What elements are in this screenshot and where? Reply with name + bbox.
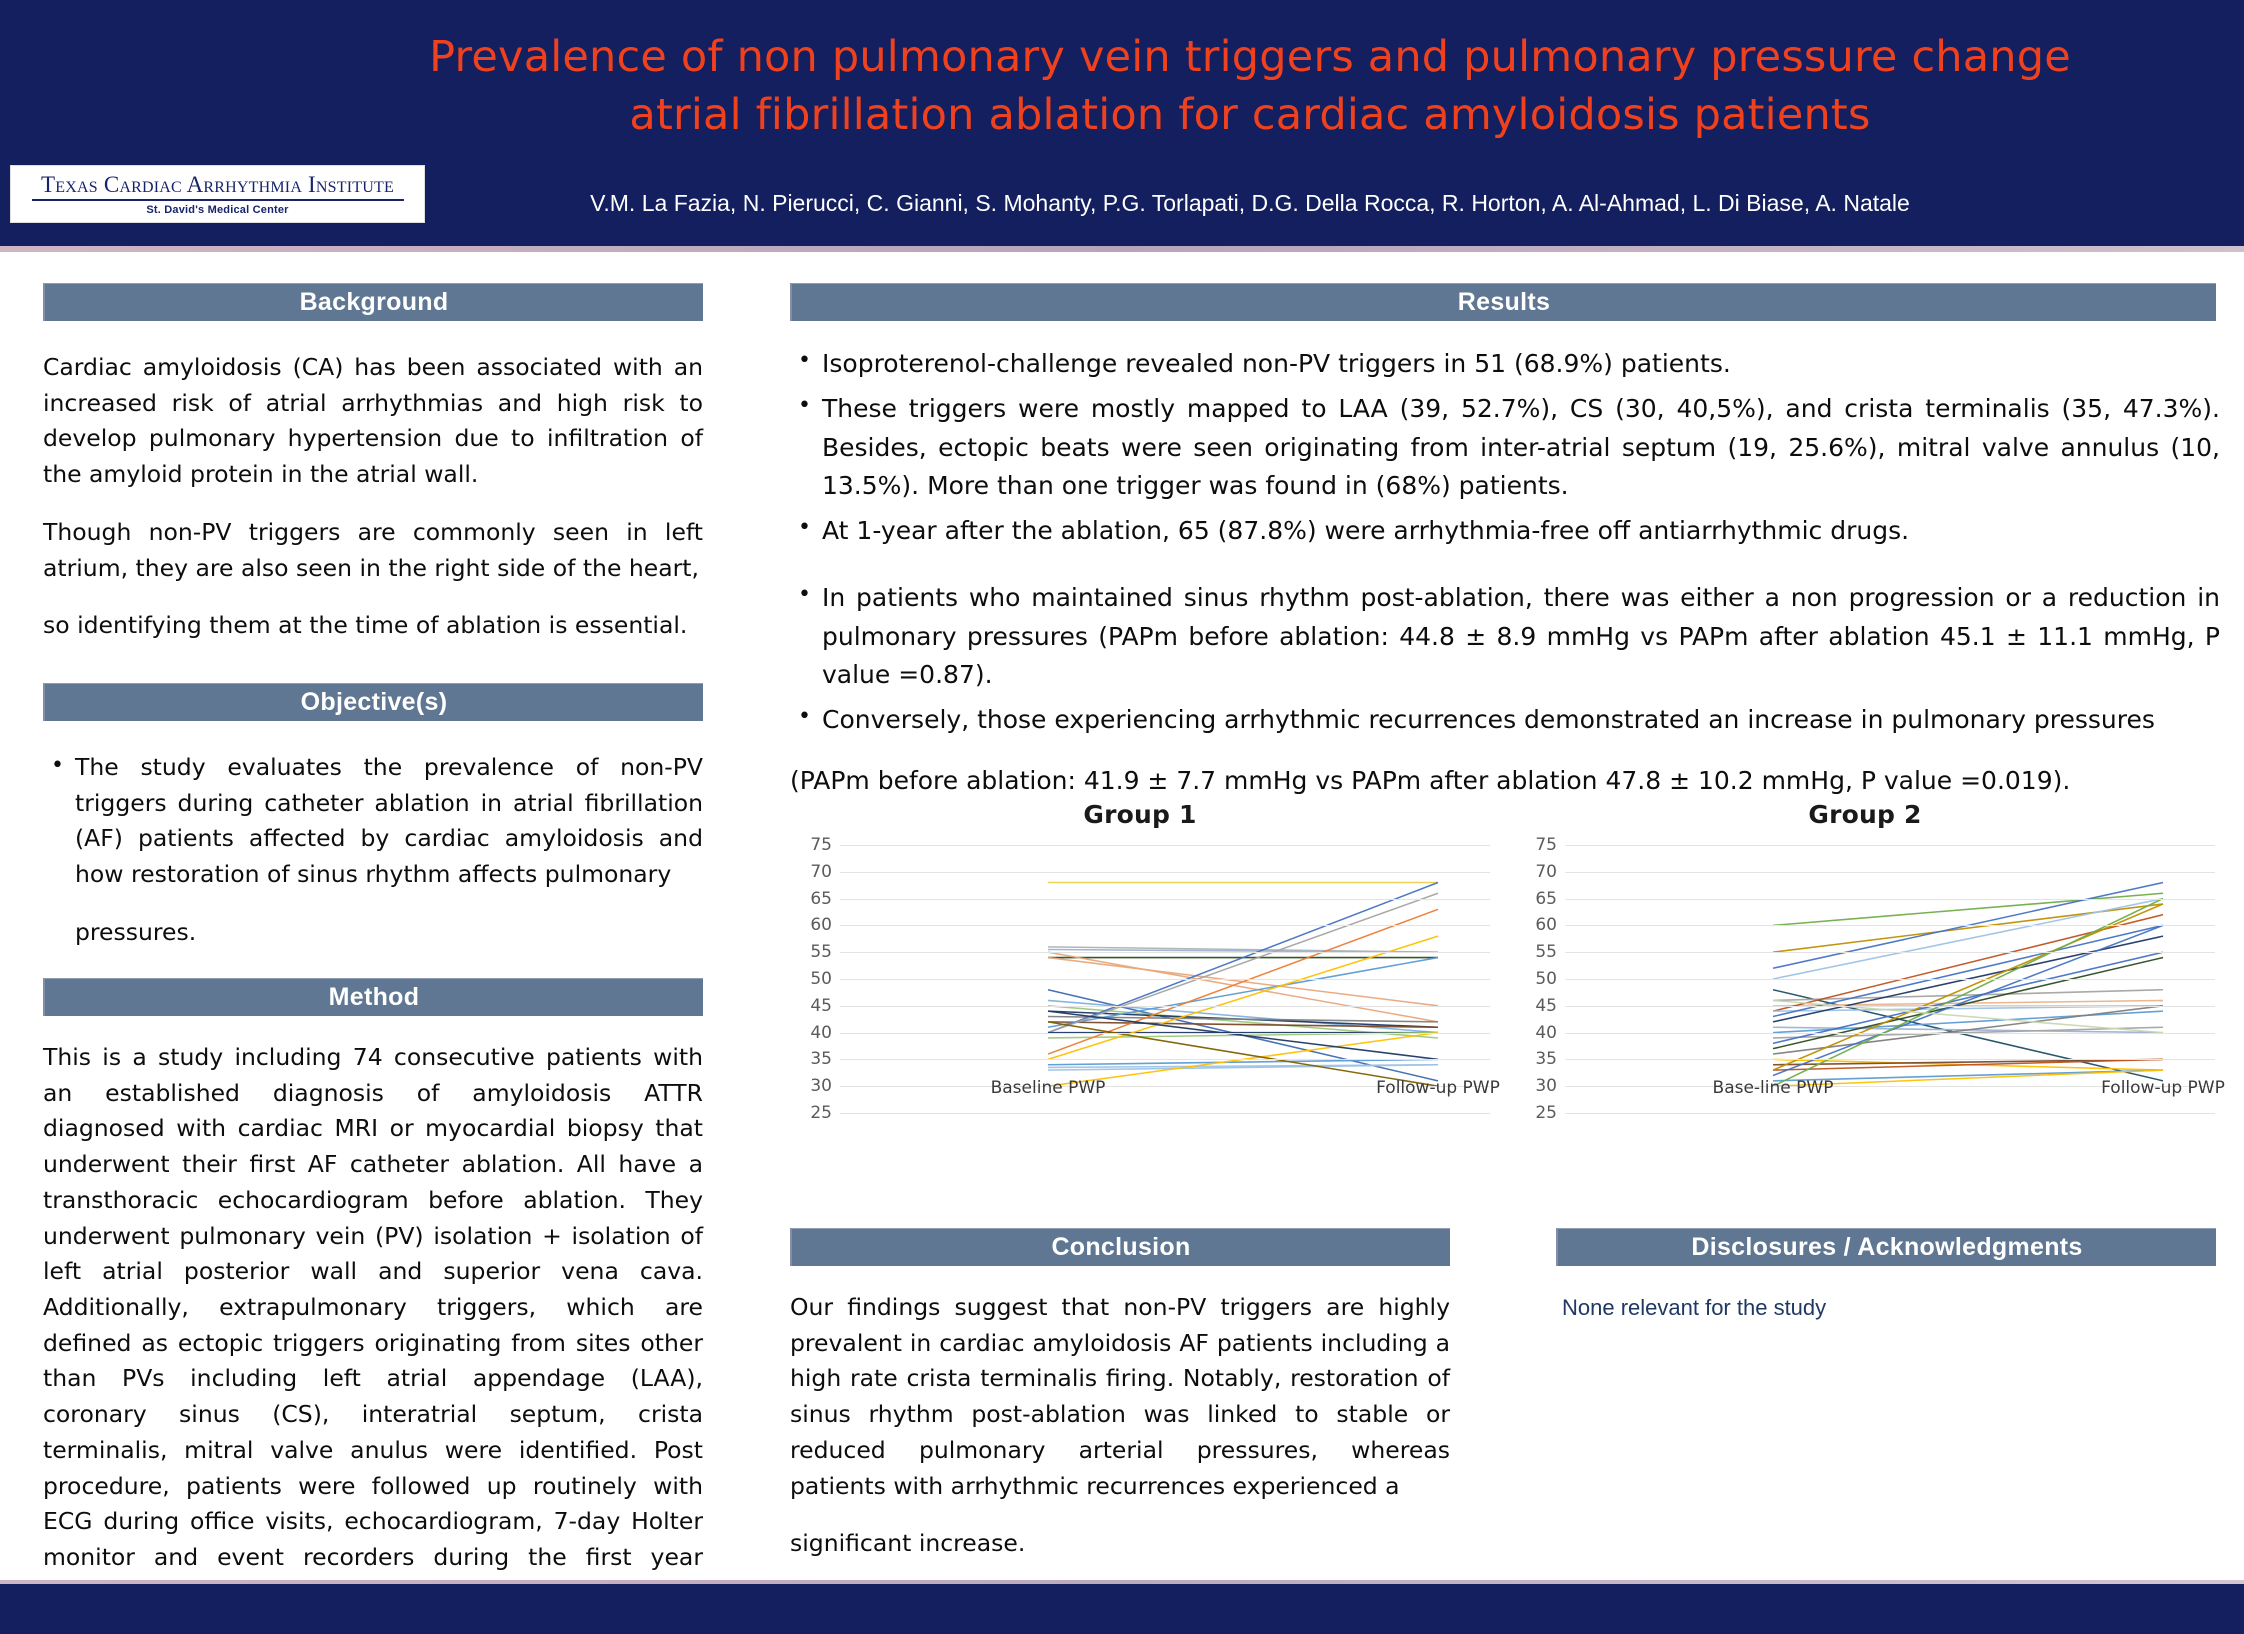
chart-gridline [1565, 1006, 2215, 1007]
chart-y-tick-label: 40 [1515, 1023, 1557, 1043]
poster-header: Prevalence of non pulmonary vein trigger… [0, 0, 2244, 250]
author-list: V.M. La Fazia, N. Pierucci, C. Gianni, S… [300, 190, 2200, 217]
chart-gridline [1565, 979, 2215, 980]
chart-gridline [1565, 1113, 2215, 1114]
section-header-conclusion: Conclusion [790, 1228, 1450, 1266]
disclosures-text: None relevant for the study [1562, 1295, 2222, 1321]
chart-series-line [1048, 1022, 1438, 1086]
section-header-method-label: Method [329, 983, 420, 1012]
chart-plot-area [1565, 845, 2215, 1113]
section-header-method: Method [43, 978, 703, 1016]
poster-title-line1: Prevalence of non pulmonary vein trigger… [300, 28, 2200, 86]
chart-gridline [1565, 845, 2215, 846]
chart-series-line [1048, 1011, 1438, 1059]
chart-y-tick-label: 75 [1515, 835, 1557, 855]
poster-footer [0, 1584, 2244, 1634]
chart-series-line [1773, 925, 2163, 1075]
chart-y-tick-label: 45 [1515, 996, 1557, 1016]
background-paragraph-2: Though non-PV triggers are commonly seen… [43, 515, 703, 586]
chart-series-line [1773, 904, 2163, 1070]
logo-divider [32, 199, 404, 201]
section-header-objectives: Objective(s) [43, 683, 703, 721]
section-header-objectives-label: Objective(s) [301, 688, 448, 717]
chart-y-tick-label: 65 [1515, 889, 1557, 909]
list-item: pressures. [43, 915, 703, 951]
objectives-bullet-list: The study evaluates the prevalence of no… [43, 750, 703, 951]
background-paragraph-1: Cardiac amyloidosis (CA) has been associ… [43, 350, 703, 493]
header-accent-bar [0, 246, 2244, 252]
list-item: Conversely, those experiencing arrhythmi… [790, 701, 2220, 740]
list-item: These triggers were mostly mapped to LAA… [790, 390, 2220, 506]
chart-y-tick-label: 50 [1515, 969, 1557, 989]
chart-gridline [840, 872, 1490, 873]
chart-y-tick-label: 70 [790, 862, 832, 882]
chart-title: Group 2 [1515, 800, 2215, 829]
logo-medical-center: St. David's Medical Center [146, 204, 288, 216]
conclusion-paragraph-1: Our findings suggest that non-PV trigger… [790, 1290, 1450, 1504]
chart-x-axis: Baseline PWPFollow-up PWP [840, 1078, 1490, 1108]
chart-y-tick-label: 30 [1515, 1076, 1557, 1096]
section-header-background-label: Background [300, 288, 449, 317]
results-bullet-list-primary: Isoproterenol-challenge revealed non-PV … [790, 345, 2220, 551]
poster-title-line2: atrial fibrillation ablation for cardiac… [300, 86, 2200, 144]
chart-y-tick-label: 25 [1515, 1103, 1557, 1123]
list-item: In patients who maintained sinus rhythm … [790, 579, 2220, 695]
chart-y-tick-label: 65 [790, 889, 832, 909]
chart-x-tick-label: Follow-up PWP [1376, 1078, 1500, 1098]
chart-y-tick-label: 55 [790, 942, 832, 962]
chart-gridline [840, 952, 1490, 953]
chart-y-axis: 7570656055504540353025 [790, 845, 832, 1113]
chart-gridline [1565, 925, 2215, 926]
chart-gridline [840, 1006, 1490, 1007]
section-header-results-label: Results [1458, 288, 1550, 317]
chart-gridline [840, 1033, 1490, 1034]
chart-plot-area [840, 845, 1490, 1113]
chart-series-line [1773, 990, 2163, 1001]
chart-title: Group 1 [790, 800, 1490, 829]
chart-gridline [840, 979, 1490, 980]
chart-y-tick-label: 75 [790, 835, 832, 855]
chart-gridline [840, 1059, 1490, 1060]
chart-y-tick-label: 50 [790, 969, 832, 989]
chart-gridline [840, 925, 1490, 926]
results-trailing-statistics: (PAPm before ablation: 41.9 ± 7.7 mmHg v… [790, 762, 2220, 801]
list-item: Isoproterenol-challenge revealed non-PV … [790, 345, 2220, 384]
chart-y-tick-label: 60 [790, 915, 832, 935]
section-header-results: Results [790, 283, 2216, 321]
chart-series-line [1773, 899, 2163, 1087]
chart-x-tick-label: Follow-up PWP [2101, 1078, 2225, 1098]
method-paragraph-1: This is a study including 74 consecutive… [43, 1040, 703, 1634]
chart-x-axis: Base-line PWPFollow-up PWP [1565, 1078, 2215, 1108]
objectives-body: The study evaluates the prevalence of no… [43, 750, 703, 957]
chart-y-tick-label: 40 [790, 1023, 832, 1043]
chart-y-tick-label: 25 [790, 1103, 832, 1123]
section-header-conclusion-label: Conclusion [1051, 1233, 1190, 1262]
chart-x-tick-label: Baseline PWP [991, 1078, 1106, 1098]
poster-root: Prevalence of non pulmonary vein trigger… [0, 0, 2244, 1634]
background-body: Cardiac amyloidosis (CA) has been associ… [43, 350, 703, 644]
chart-y-tick-label: 35 [1515, 1049, 1557, 1069]
chart-y-tick-label: 70 [1515, 862, 1557, 882]
chart-y-tick-label: 55 [1515, 942, 1557, 962]
chart-gridline [840, 845, 1490, 846]
chart-gridline [1565, 1059, 2215, 1060]
section-header-background: Background [43, 283, 703, 321]
chart-gridline [1565, 1033, 2215, 1034]
chart-y-axis: 7570656055504540353025 [1515, 845, 1557, 1113]
chart-y-tick-label: 30 [790, 1076, 832, 1096]
chart-gridline [840, 1113, 1490, 1114]
list-item: At 1-year after the ablation, 65 (87.8%)… [790, 512, 2220, 551]
chart-gridline [1565, 899, 2215, 900]
chart-gridline [1565, 952, 2215, 953]
logo-institute-name: Texas Cardiac Arrhythmia Institute [41, 173, 394, 196]
results-body: Isoproterenol-challenge revealed non-PV … [790, 345, 2220, 801]
method-body: This is a study including 74 consecutive… [43, 1040, 703, 1634]
chart-y-tick-label: 35 [790, 1049, 832, 1069]
chart-group-1: Group 1 7570656055504540353025 Baseline … [790, 800, 1490, 1190]
chart-y-tick-label: 60 [1515, 915, 1557, 935]
charts-container: Group 1 7570656055504540353025 Baseline … [790, 800, 2215, 1190]
institution-logo: Texas Cardiac Arrhythmia Institute St. D… [10, 165, 425, 223]
section-header-disclosures: Disclosures / Acknowledgments [1556, 1228, 2216, 1266]
list-item: The study evaluates the prevalence of no… [43, 750, 703, 893]
section-header-disclosures-label: Disclosures / Acknowledgments [1691, 1233, 2082, 1262]
chart-x-tick-label: Base-line PWP [1713, 1078, 1834, 1098]
background-paragraph-3: so identifying them at the time of ablat… [43, 608, 703, 644]
conclusion-paragraph-2: significant increase. [790, 1526, 1450, 1562]
chart-y-tick-label: 45 [790, 996, 832, 1016]
chart-group-2: Group 2 7570656055504540353025 Base-line… [1515, 800, 2215, 1190]
chart-gridline [1565, 872, 2215, 873]
results-bullet-list-secondary: In patients who maintained sinus rhythm … [790, 579, 2220, 740]
title-block: Prevalence of non pulmonary vein trigger… [300, 28, 2200, 144]
chart-gridline [840, 899, 1490, 900]
conclusion-body: Our findings suggest that non-PV trigger… [790, 1290, 1450, 1562]
